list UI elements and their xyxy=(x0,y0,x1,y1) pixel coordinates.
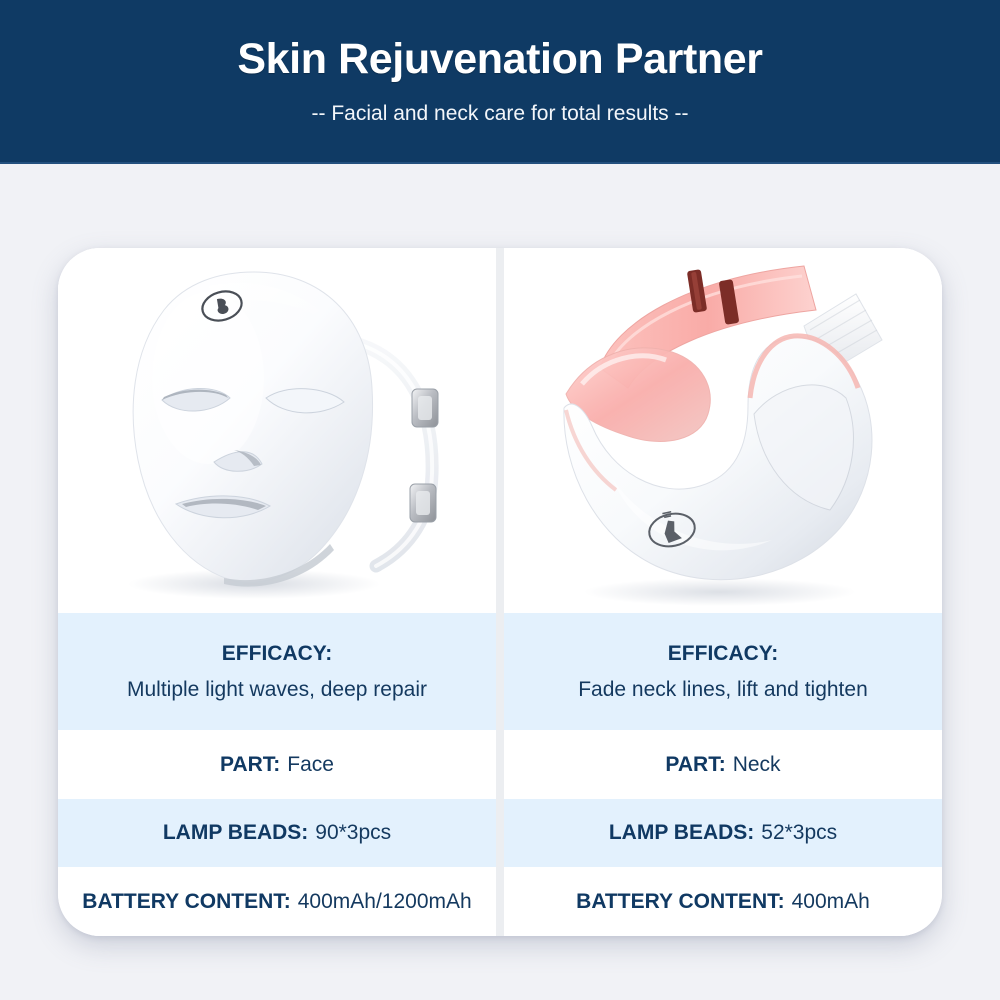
page-title: Skin Rejuvenation Partner xyxy=(237,38,762,81)
spec-row-efficacy: EFFICACY: Multiple light waves, deep rep… xyxy=(58,613,942,730)
spec-value: Fade neck lines, lift and tighten xyxy=(578,675,868,705)
product-photo-strip xyxy=(58,248,942,613)
spec-cell-part-face: PART: Face xyxy=(58,730,496,799)
spec-label: EFFICACY: xyxy=(222,639,332,669)
spec-label: BATTERY CONTENT: xyxy=(576,887,784,917)
spec-cell-efficacy-face: EFFICACY: Multiple light waves, deep rep… xyxy=(58,613,496,730)
spec-cell-battery-neck: BATTERY CONTENT: 400mAh xyxy=(504,867,942,936)
column-divider xyxy=(496,248,504,613)
spec-row-part: PART: Face PART: Neck xyxy=(58,730,942,799)
spec-value: 52*3pcs xyxy=(761,818,837,848)
spec-label: PART: xyxy=(220,750,280,780)
spec-value: 400mAh xyxy=(792,887,870,917)
spec-value: Multiple light waves, deep repair xyxy=(127,675,427,705)
spec-row-lamp-beads: LAMP BEADS: 90*3pcs LAMP BEADS: 52*3pcs xyxy=(58,799,942,868)
spec-label: BATTERY CONTENT: xyxy=(82,887,290,917)
face-mask-illustration xyxy=(58,248,496,613)
neck-device-shadow xyxy=(584,578,856,606)
spec-cell-battery-face: BATTERY CONTENT: 400mAh/1200mAh xyxy=(58,867,496,936)
spec-value: Neck xyxy=(733,750,781,780)
neck-device-illustration xyxy=(504,248,942,613)
mask-buckle-lower xyxy=(410,484,436,522)
column-divider xyxy=(496,613,504,730)
spec-label: LAMP BEADS: xyxy=(163,818,308,848)
spec-table: EFFICACY: Multiple light waves, deep rep… xyxy=(58,613,942,936)
column-divider xyxy=(496,799,504,868)
spec-cell-lamp-beads-neck: LAMP BEADS: 52*3pcs xyxy=(504,799,942,868)
spec-label: EFFICACY: xyxy=(668,639,778,669)
product-infographic: Skin Rejuvenation Partner -- Facial and … xyxy=(0,0,1000,1000)
header-banner: Skin Rejuvenation Partner -- Facial and … xyxy=(0,0,1000,164)
spec-cell-lamp-beads-face: LAMP BEADS: 90*3pcs xyxy=(58,799,496,868)
product-image-led-neck-device xyxy=(504,248,942,613)
spec-cell-part-neck: PART: Neck xyxy=(504,730,942,799)
column-divider xyxy=(496,730,504,799)
spec-value: 90*3pcs xyxy=(315,818,391,848)
column-divider xyxy=(496,867,504,936)
spec-value: 400mAh/1200mAh xyxy=(298,887,472,917)
comparison-card: EFFICACY: Multiple light waves, deep rep… xyxy=(58,248,942,936)
spec-cell-efficacy-neck: EFFICACY: Fade neck lines, lift and tigh… xyxy=(504,613,942,730)
spec-label: LAMP BEADS: xyxy=(609,818,754,848)
mask-buckle-upper xyxy=(412,389,438,427)
spec-value: Face xyxy=(287,750,334,780)
product-image-led-face-mask xyxy=(58,248,496,613)
spec-row-battery-content: BATTERY CONTENT: 400mAh/1200mAh BATTERY … xyxy=(58,867,942,936)
spec-label: PART: xyxy=(665,750,725,780)
page-subtitle: -- Facial and neck care for total result… xyxy=(312,103,689,124)
